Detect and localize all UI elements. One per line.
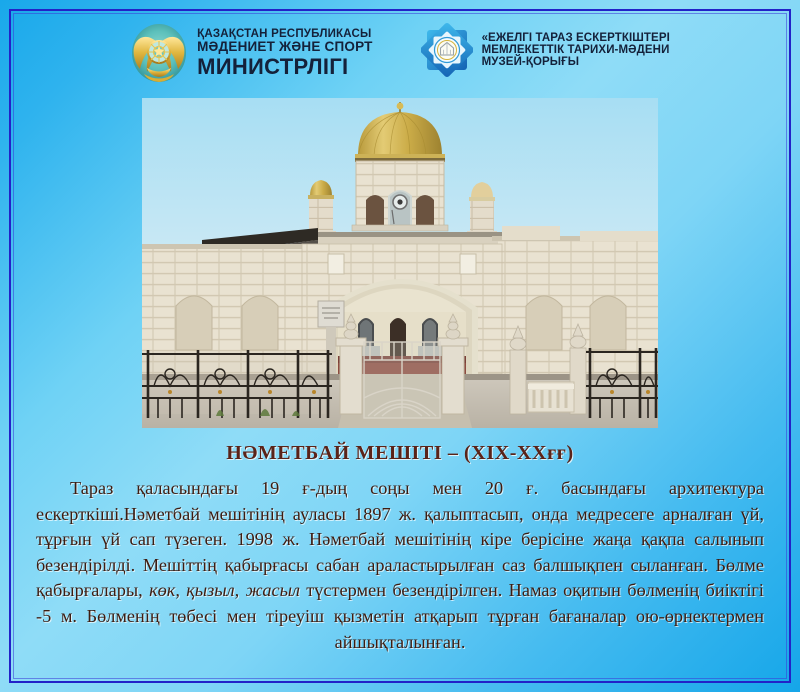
page-title: НӘМЕТБАЙ МЕШІТІ – (XIX-XXғғ) bbox=[0, 442, 800, 465]
ministry-line-3: МИНИСТРЛІГІ bbox=[197, 55, 372, 78]
museum-line-2: МЕМЛЕКЕТТІК ТАРИХИ-МӘДЕНИ bbox=[482, 44, 670, 56]
museum-branding: «ЕЖЕЛГІ ТАРАЗ ЕСКЕРТКІШТЕРІ МЕМЛЕКЕТТІК … bbox=[421, 22, 670, 78]
ministry-line-2: МӘДЕНИЕТ ЖӘНЕ СПОРТ bbox=[197, 40, 372, 54]
museum-text-block: «ЕЖЕЛГІ ТАРАЗ ЕСКЕРТКІШТЕРІ МЕМЛЕКЕТТІК … bbox=[482, 32, 670, 68]
kazakhstan-coat-of-arms-icon bbox=[130, 22, 188, 84]
nametbai-mosque-photograph bbox=[142, 98, 658, 428]
museum-star-emblem-icon bbox=[421, 22, 473, 78]
poster-header: ҚАЗАҚСТАН РЕСПУБЛИКАСЫ МӘДЕНИЕТ ЖӘНЕ СПО… bbox=[0, 22, 800, 100]
description-text: Тараз қаласындағы 19 ғ-дың соңы мен 20 ғ… bbox=[36, 476, 764, 655]
museum-line-3: МУЗЕЙ-ҚОРЫҒЫ bbox=[482, 56, 670, 68]
description-color-words: көк, қызыл, жасыл bbox=[149, 580, 300, 600]
ministry-branding: ҚАЗАҚСТАН РЕСПУБЛИКАСЫ МӘДЕНИЕТ ЖӘНЕ СПО… bbox=[130, 22, 372, 84]
info-poster: ҚАЗАҚСТАН РЕСПУБЛИКАСЫ МӘДЕНИЕТ ЖӘНЕ СПО… bbox=[0, 0, 800, 692]
museum-line-1: «ЕЖЕЛГІ ТАРАЗ ЕСКЕРТКІШТЕРІ bbox=[482, 32, 670, 44]
mosque-illustration bbox=[142, 98, 658, 428]
ministry-text-block: ҚАЗАҚСТАН РЕСПУБЛИКАСЫ МӘДЕНИЕТ ЖӘНЕ СПО… bbox=[197, 28, 372, 78]
mosque-photo-container bbox=[142, 98, 658, 428]
